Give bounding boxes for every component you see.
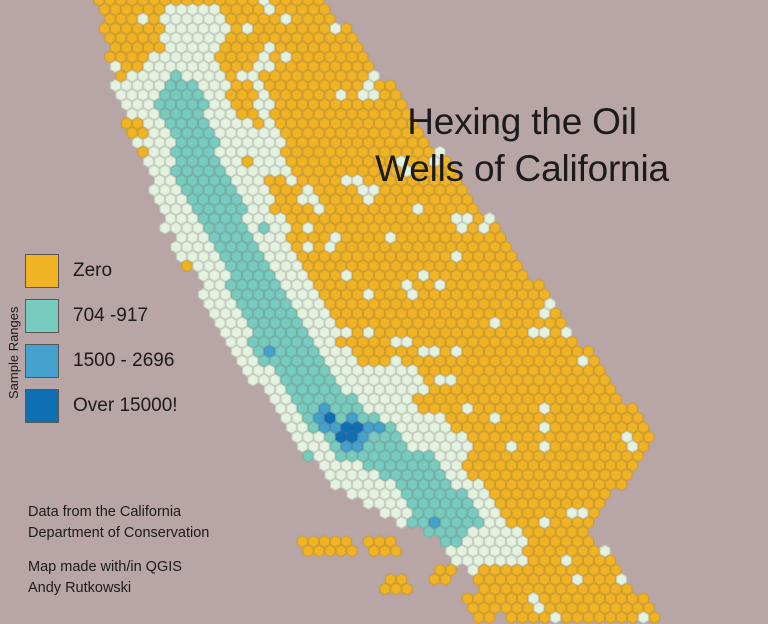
- legend-axis-label: Sample Ranges: [6, 278, 21, 428]
- legend-row: 704 -917: [25, 293, 178, 338]
- legend-swatch-high: [25, 389, 59, 423]
- page-title-line-1: Hexing the Oil: [322, 98, 722, 145]
- legend: Sample Ranges Zero 704 -917 1500 - 2696 …: [6, 248, 178, 428]
- legend-swatch-mid: [25, 344, 59, 378]
- legend-label-high: Over 15000!: [73, 395, 178, 417]
- legend-row: Over 15000!: [25, 383, 178, 428]
- legend-label-low: 704 -917: [73, 305, 148, 327]
- data-source-credit: Data from the California Department of C…: [28, 502, 209, 543]
- data-source-line-1: Data from the California: [28, 502, 209, 523]
- credits: Data from the California Department of C…: [28, 502, 209, 598]
- software-credit-line: Map made with/in QGIS: [28, 557, 209, 578]
- page-title-line-2: Wells of California: [322, 145, 722, 192]
- legend-row: 1500 - 2696: [25, 338, 178, 383]
- author-name-line: Andy Rutkowski: [28, 578, 209, 599]
- legend-label-zero: Zero: [73, 260, 112, 282]
- author-credit: Map made with/in QGIS Andy Rutkowski: [28, 557, 209, 598]
- legend-swatch-low: [25, 299, 59, 333]
- page-title: Hexing the Oil Wells of California: [322, 98, 722, 193]
- data-source-line-2: Department of Conservation: [28, 523, 209, 544]
- map-page: Hexing the Oil Wells of California Sampl…: [0, 0, 768, 624]
- legend-row: Zero: [25, 248, 178, 293]
- legend-swatch-zero: [25, 254, 59, 288]
- legend-entries: Zero 704 -917 1500 - 2696 Over 15000!: [25, 248, 178, 428]
- legend-label-mid: 1500 - 2696: [73, 350, 174, 372]
